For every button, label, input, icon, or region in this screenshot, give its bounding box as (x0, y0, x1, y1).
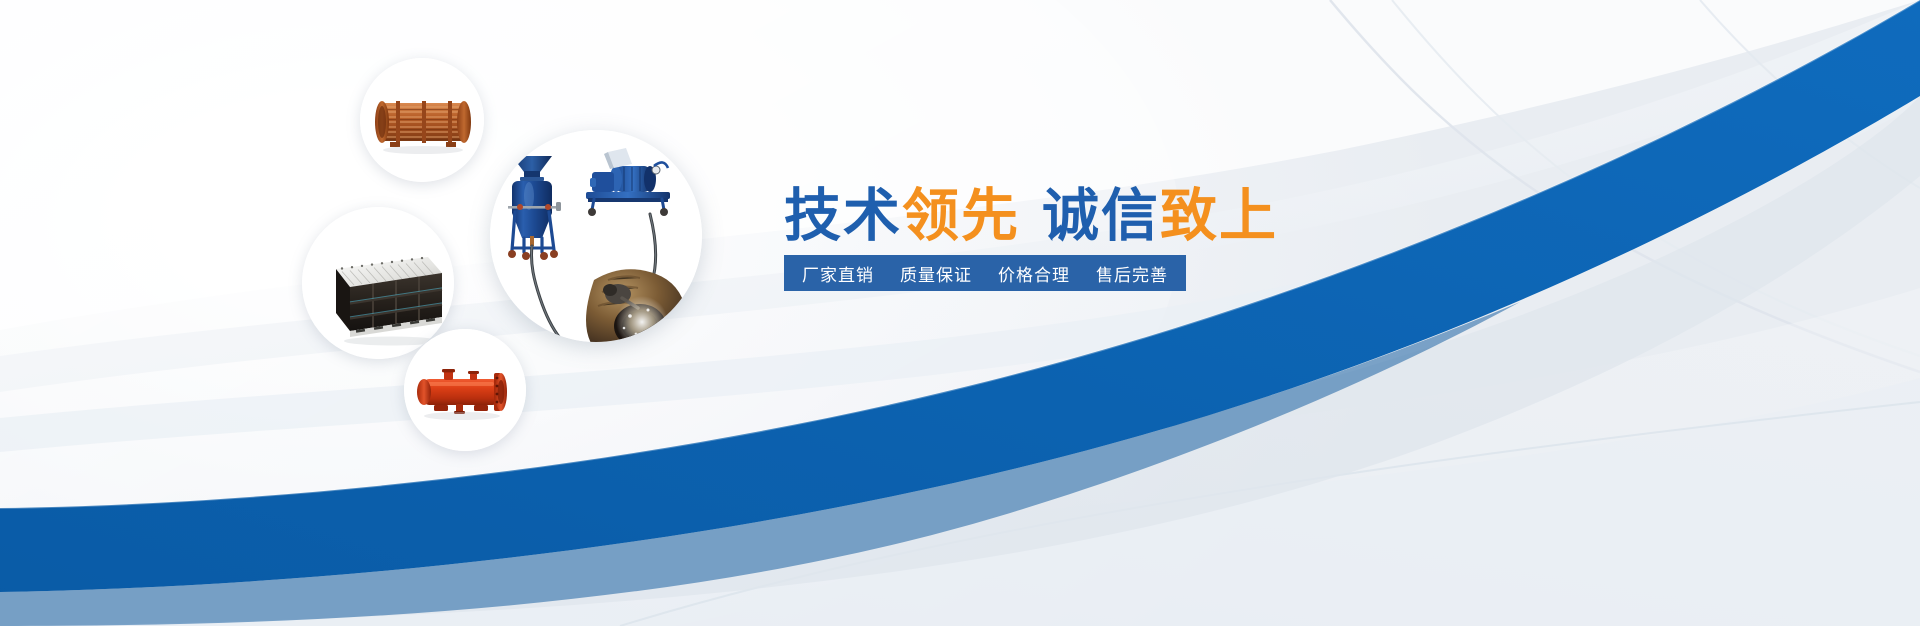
product-circle-red-cylinder-vessel[interactable] (404, 329, 526, 451)
tagline-bar: 厂家直销 质量保证 价格合理 售后完善 (784, 255, 1186, 291)
tagline-item-1: 厂家直销 (802, 261, 874, 286)
tagline-item-2: 质量保证 (900, 261, 972, 286)
headline: 技术领先诚信致上 (784, 188, 1278, 245)
copper-tube-bundle-icon (360, 58, 484, 182)
headline-segment-3: 诚信 (1042, 184, 1160, 248)
tagline-item-3: 价格合理 (998, 261, 1070, 286)
red-cylinder-vessel-icon (404, 329, 526, 451)
headline-segment-2: 领先 (902, 184, 1020, 248)
tagline-item-4: 售后完善 (1096, 261, 1168, 286)
headline-segment-4: 致上 (1160, 184, 1278, 248)
sandblasting-unit-icon (490, 130, 702, 342)
product-circle-sandblasting-unit[interactable] (490, 130, 702, 342)
blue-ribbon-swoosh (0, 0, 1920, 626)
promo-banner: 技术领先诚信致上 厂家直销 质量保证 价格合理 售后完善 (0, 0, 1920, 626)
product-circle-copper-tube-bundle[interactable] (360, 58, 484, 182)
headline-segment-1: 技术 (784, 184, 902, 248)
